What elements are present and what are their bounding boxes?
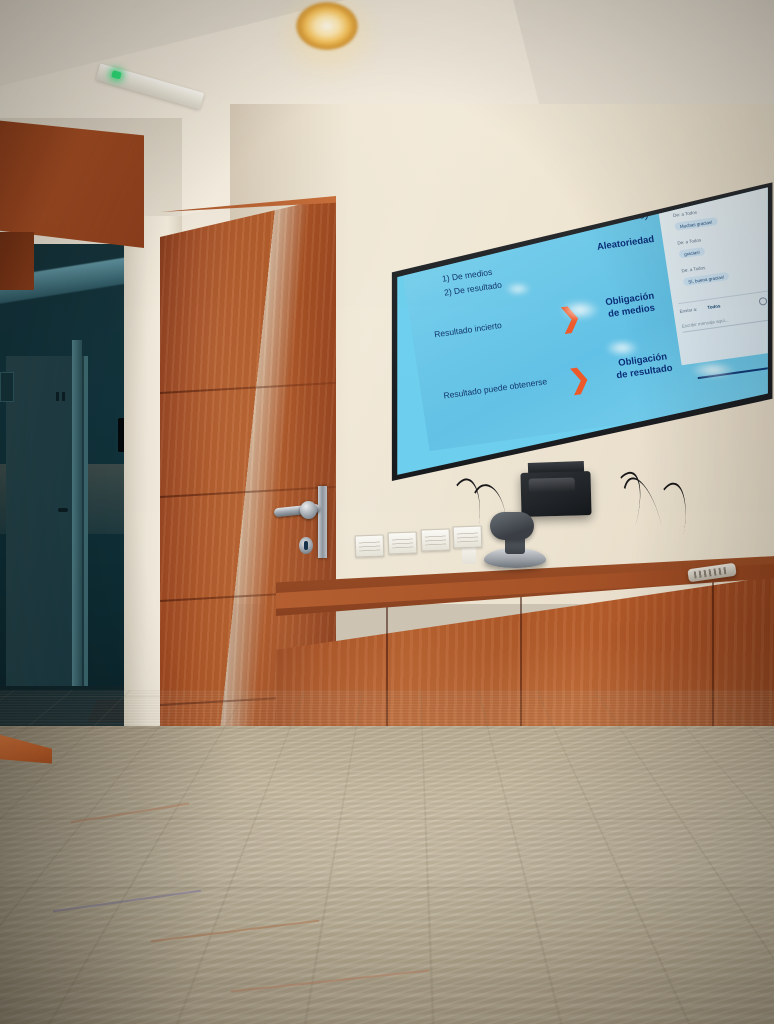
wall-sign	[0, 372, 14, 402]
tv-screen-content: RESPONSABILIDAD MÉDICA "Traité des oblig…	[388, 176, 774, 492]
hallway-door-handle[interactable]	[58, 508, 68, 512]
chat-header-label: Chat	[676, 195, 686, 201]
card-text-lines	[457, 532, 478, 543]
remote-buttons	[694, 567, 729, 579]
door-handle-rose	[300, 501, 317, 519]
table-card	[453, 526, 483, 549]
tv-screen[interactable]: RESPONSABILIDAD MÉDICA "Traité des oblig…	[388, 176, 774, 492]
hallway-door-frame	[72, 340, 82, 700]
door-marking	[56, 392, 68, 401]
card-text-lines	[359, 541, 380, 552]
card-text-lines	[392, 538, 413, 549]
wood-header-panel	[0, 120, 144, 248]
media-player-box	[520, 471, 591, 517]
chevron-right-icon: ❯	[557, 303, 582, 332]
floor-shadow	[0, 726, 300, 1024]
slide-underline	[698, 364, 774, 379]
door-keyhole-icon[interactable]	[299, 537, 313, 554]
door-strike-plate	[318, 486, 327, 558]
slide-right-label-1: Aleatoriedad	[596, 234, 655, 253]
chat-panel	[655, 176, 774, 365]
camera-head[interactable]	[490, 512, 534, 540]
photo-scene: RESPONSABILIDAD MÉDICA "Traité des oblig…	[0, 0, 774, 1024]
recessed-downlight-icon	[296, 2, 358, 50]
card-text-lines	[425, 535, 446, 546]
slide-right-label-3: Obligación de resultado	[614, 351, 674, 382]
slide-title: RESPONSABILIDAD MÉDICA	[406, 192, 547, 222]
slide-right-label-2: Obligación de medios	[605, 290, 657, 320]
media-box-gloss	[529, 478, 575, 493]
television: RESPONSABILIDAD MÉDICA "Traité des oblig…	[388, 176, 774, 492]
table-card	[421, 529, 451, 552]
table-card	[355, 535, 385, 558]
slide-left-label-2: Resultado puede obtenerse	[443, 376, 548, 400]
chat-icon	[664, 197, 674, 207]
slide-left-label-1: Resultado incierto	[434, 320, 503, 339]
glass-stand	[462, 546, 476, 564]
table-card	[388, 532, 418, 555]
chevron-right-icon: ❯	[567, 364, 592, 393]
status-led-icon	[111, 70, 122, 79]
person-silhouette	[696, 176, 727, 183]
wood-header-return	[0, 232, 34, 290]
